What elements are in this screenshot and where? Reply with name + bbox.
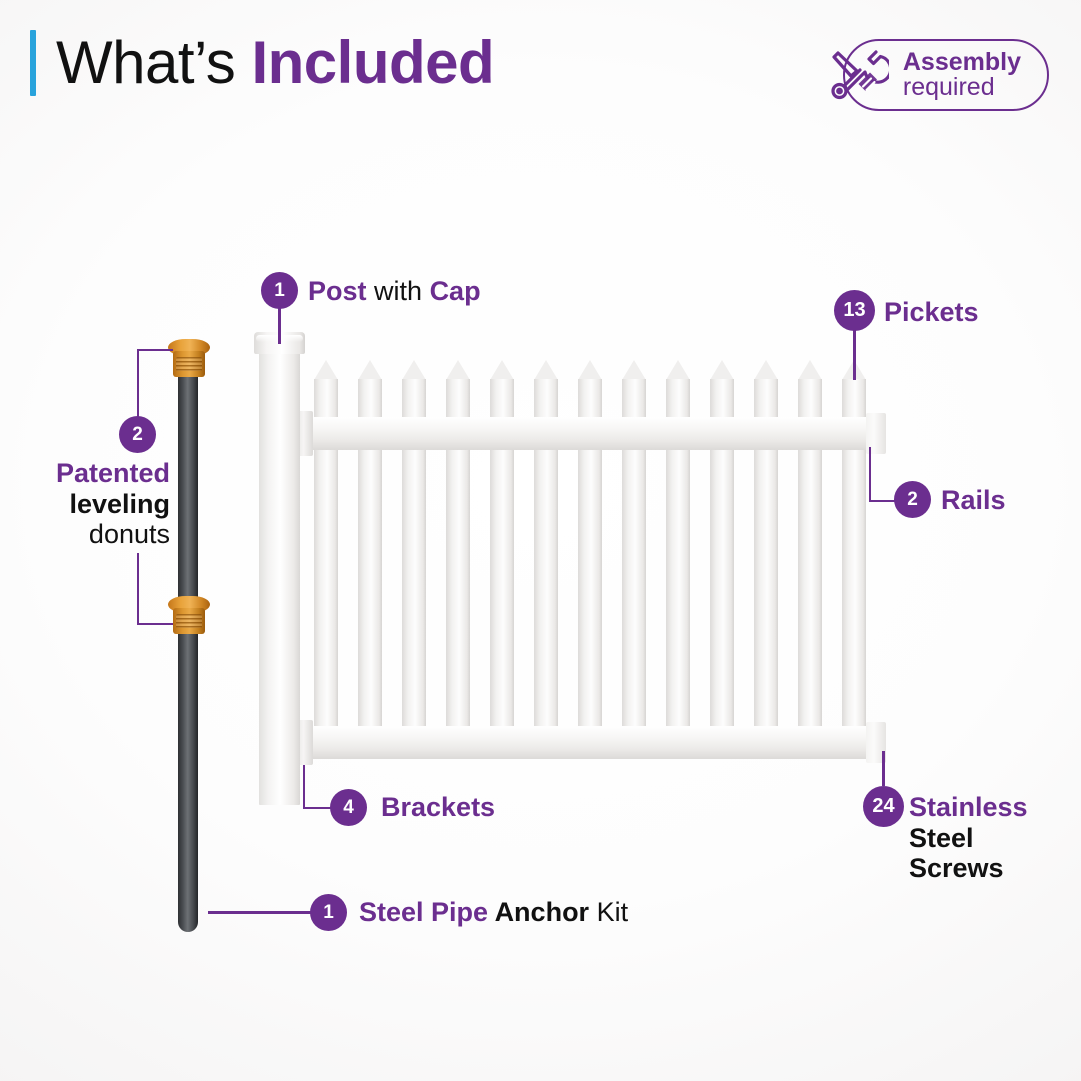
callout-label-rails: Rails — [941, 485, 1006, 516]
leader-anchor-kit — [208, 911, 313, 914]
badge-brackets-qty: 4 — [330, 789, 367, 826]
picket-tip — [622, 360, 646, 380]
callout-label-donuts: Patented leveling donuts — [0, 458, 170, 550]
fence-post — [259, 345, 300, 805]
callout-label-post: Post with Cap — [308, 276, 481, 307]
badge-anchor-kit-qty: 1 — [310, 894, 347, 931]
badge-pickets-qty: 13 — [834, 290, 875, 331]
callout-anchor-word2: Anchor — [495, 897, 590, 927]
infographic-canvas: What’s Included Assembly required — [0, 0, 1081, 1081]
picket-tip — [402, 360, 426, 380]
picket-tip — [710, 360, 734, 380]
callout-screws-line2: Steel — [909, 823, 974, 853]
callout-post-word1: Post — [308, 276, 367, 306]
callout-screws-line3: Screws — [909, 853, 1004, 883]
badge-screws-qty: 24 — [863, 786, 904, 827]
picket-tip — [490, 360, 514, 380]
leader-donut-lower — [137, 553, 173, 625]
picket-tip — [754, 360, 778, 380]
leveling-donut-upper — [168, 339, 210, 383]
callout-rails-word: Rails — [941, 485, 1006, 515]
picket-tip — [358, 360, 382, 380]
picket-tip — [578, 360, 602, 380]
callout-screws-line1: Stainless — [909, 792, 1028, 822]
leveling-donut-lower — [168, 596, 210, 640]
callout-donuts-line3: donuts — [89, 519, 170, 549]
badge-post-qty: 1 — [261, 272, 298, 309]
callout-brackets-word: Brackets — [381, 792, 495, 822]
callout-label-anchor-kit: Steel Pipe Anchor Kit — [359, 897, 628, 928]
callout-anchor-word3: Kit — [597, 897, 629, 927]
rail-top — [302, 417, 882, 450]
leader-post — [278, 308, 281, 344]
leader-pickets — [853, 330, 856, 380]
picket-tip — [446, 360, 470, 380]
badge-donuts-qty: 2 — [119, 416, 156, 453]
picket-tip — [666, 360, 690, 380]
leader-screws — [882, 751, 885, 786]
leader-donut-upper — [137, 349, 173, 421]
picket-tip — [798, 360, 822, 380]
callout-label-brackets: Brackets — [381, 792, 495, 823]
callout-pickets-word: Pickets — [884, 297, 979, 327]
callout-anchor-word1: Steel Pipe — [359, 897, 488, 927]
callout-label-pickets: Pickets — [884, 297, 979, 328]
leader-rails — [869, 447, 896, 502]
picket-tip — [314, 360, 338, 380]
steel-pipe-anchor — [178, 352, 198, 932]
badge-rails-qty: 2 — [894, 481, 931, 518]
leader-brackets — [303, 765, 332, 809]
callout-post-word3: Cap — [430, 276, 481, 306]
callout-donuts-line2: leveling — [69, 489, 170, 519]
callout-label-screws: Stainless Steel Screws — [909, 792, 1059, 884]
rail-bottom — [302, 726, 882, 759]
picket-tip — [534, 360, 558, 380]
callout-donuts-line1: Patented — [56, 458, 170, 488]
callout-post-word2: with — [374, 276, 422, 306]
